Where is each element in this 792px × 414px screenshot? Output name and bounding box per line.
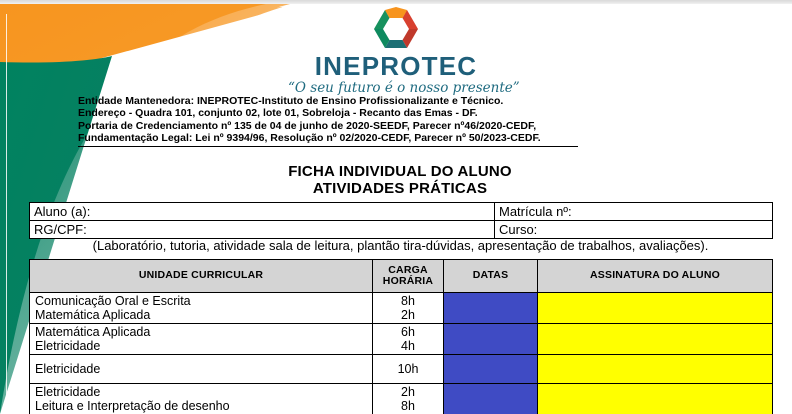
cell-assinatura[interactable] — [538, 324, 773, 355]
carga-line: 8h — [373, 399, 443, 413]
institution-line: Fundamentação Legal: Lei nº 9394/96, Res… — [78, 132, 578, 144]
field-rg-cpf[interactable]: RG/CPF: — [30, 221, 495, 239]
table-row: Comunicação Oral e Escrita Matemática Ap… — [30, 293, 773, 324]
table-row: Eletricidade 10h — [30, 355, 773, 384]
column-header-unidade-curricular: UNIDADE CURRICULAR — [30, 260, 373, 293]
title-line-2: ATIVIDADES PRÁTICAS — [28, 180, 772, 197]
institution-line: Portaria de Credenciamento nº 135 de 04 … — [78, 120, 578, 132]
institution-line: Endereço - Quadra 101, conjunto 02, lote… — [78, 107, 578, 119]
cell-carga-horaria: 10h — [373, 355, 444, 384]
unidade-line: Eletricidade — [35, 385, 372, 399]
unidade-line: Comunicação Oral e Escrita — [35, 294, 372, 308]
identity-row: Aluno (a): Matrícula nº: — [30, 203, 773, 221]
hexagon-ring-icon — [372, 6, 420, 52]
activities-table: UNIDADE CURRICULAR CARGA HORÁRIA DATAS A… — [29, 259, 773, 414]
table-header-row: UNIDADE CURRICULAR CARGA HORÁRIA DATAS A… — [30, 260, 773, 293]
cell-carga-horaria: 2h 8h — [373, 384, 444, 414]
title-line-1: FICHA INDIVIDUAL DO ALUNO — [28, 163, 772, 180]
header-text: HORÁRIA — [373, 276, 443, 288]
logo: INEPROTEC “O seu futuro é o nosso presen… — [288, 6, 504, 96]
institution-line: Entidade Mantenedora: INEPROTEC-Institut… — [78, 95, 578, 107]
page-title: FICHA INDIVIDUAL DO ALUNO ATIVIDADES PRÁ… — [28, 163, 772, 197]
page-top-strip — [0, 0, 792, 4]
table-row: Eletricidade Leitura e Interpretação de … — [30, 384, 773, 414]
cell-unidade-curricular: Eletricidade — [30, 355, 373, 384]
unidade-line: Matemática Aplicada — [35, 308, 372, 322]
carga-line: 2h — [373, 385, 443, 399]
carga-line: 10h — [373, 362, 443, 376]
logo-wordmark: INEPROTEC — [288, 53, 504, 79]
cell-assinatura[interactable] — [538, 293, 773, 324]
field-curso[interactable]: Curso: — [495, 221, 773, 239]
carga-line: 6h — [373, 325, 443, 339]
cell-unidade-curricular: Matemática Aplicada Eletricidade — [30, 324, 373, 355]
student-identity-fields: Aluno (a): Matrícula nº: RG/CPF: Curso: — [29, 202, 773, 239]
table-row: Matemática Aplicada Eletricidade 6h 4h — [30, 324, 773, 355]
cell-assinatura[interactable] — [538, 355, 773, 384]
column-header-carga-horaria: CARGA HORÁRIA — [373, 260, 444, 293]
cell-unidade-curricular: Comunicação Oral e Escrita Matemática Ap… — [30, 293, 373, 324]
cell-unidade-curricular: Eletricidade Leitura e Interpretação de … — [30, 384, 373, 414]
carga-line: 8h — [373, 294, 443, 308]
column-header-assinatura-do-aluno: ASSINATURA DO ALUNO — [538, 260, 773, 293]
unidade-line: Matemática Aplicada — [35, 325, 372, 339]
carga-line: 2h — [373, 308, 443, 322]
document-page: INEPROTEC “O seu futuro é o nosso presen… — [0, 0, 792, 414]
cell-carga-horaria: 6h 4h — [373, 324, 444, 355]
field-matricula[interactable]: Matrícula nº: — [495, 203, 773, 221]
carga-line: 4h — [373, 339, 443, 353]
cell-datas[interactable] — [444, 324, 538, 355]
unidade-line: Leitura e Interpretação de desenho — [35, 399, 372, 413]
cell-datas[interactable] — [444, 384, 538, 414]
logo-tagline: “O seu futuro é o nosso presente” — [288, 82, 504, 96]
cell-datas[interactable] — [444, 355, 538, 384]
cell-assinatura[interactable] — [538, 384, 773, 414]
unidade-line: Eletricidade — [35, 362, 372, 376]
header-text: DATAS — [444, 270, 537, 282]
unidade-line: Eletricidade — [35, 339, 372, 353]
header-text: ASSINATURA DO ALUNO — [538, 270, 772, 282]
cell-carga-horaria: 8h 2h — [373, 293, 444, 324]
field-aluno[interactable]: Aluno (a): — [30, 203, 495, 221]
institution-info: Entidade Mantenedora: INEPROTEC-Institut… — [78, 95, 578, 147]
cell-datas[interactable] — [444, 293, 538, 324]
header-text: UNIDADE CURRICULAR — [30, 270, 372, 282]
column-header-datas: DATAS — [444, 260, 538, 293]
activities-note: (Laboratório, tutoria, atividade sala de… — [29, 238, 772, 254]
identity-row: RG/CPF: Curso: — [30, 221, 773, 239]
